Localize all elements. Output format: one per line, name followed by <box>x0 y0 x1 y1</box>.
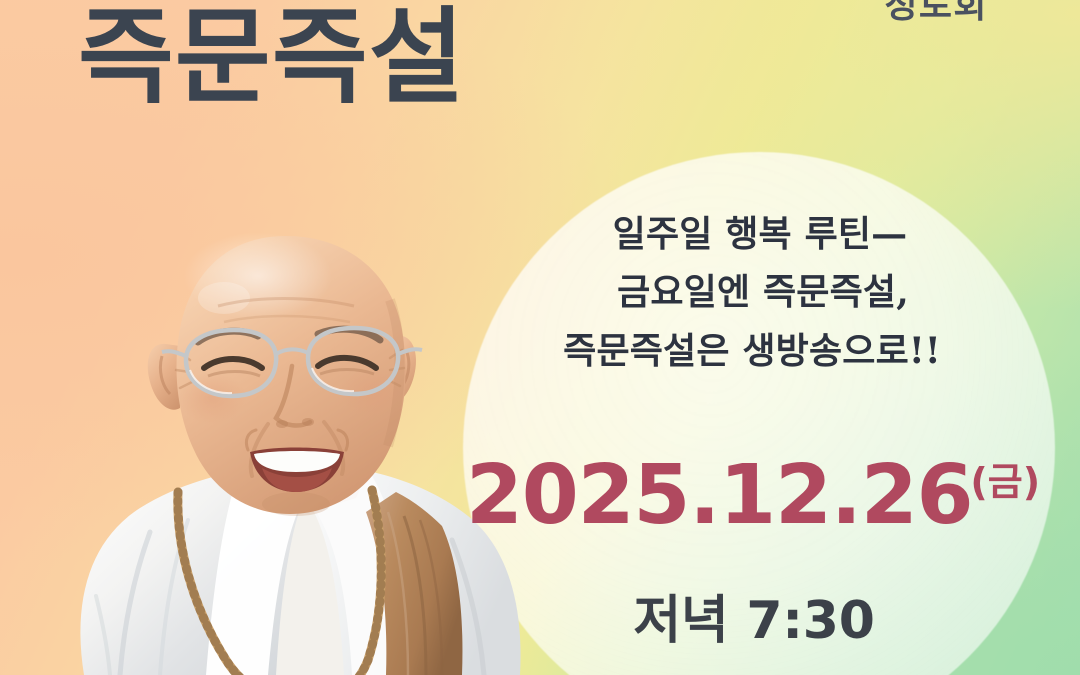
slogan-line-3: 즉문즉설은 생방송으로!! <box>454 322 1050 380</box>
event-time: 저녁 7:30 <box>440 578 1068 653</box>
poster-canvas: 정토회 즉문즉설 일주일 행복 루틴— 금요일엔 즉문즉설, 즉문즉설은 생방송… <box>0 0 1080 675</box>
event-day-of-week: (금) <box>970 460 1040 504</box>
event-date-value: 2025.12.26 <box>466 448 972 543</box>
slogan-block: 일주일 행복 루틴— 금요일엔 즉문즉설, 즉문즉설은 생방송으로!! <box>470 205 1050 380</box>
page-title: 즉문즉설 <box>78 2 466 112</box>
slogan-line-1: 일주일 행복 루틴— <box>470 205 1050 263</box>
event-date: 2025.12.26(금) <box>440 455 1068 537</box>
slogan-line-2: 금요일엔 즉문즉설, <box>476 263 1050 321</box>
